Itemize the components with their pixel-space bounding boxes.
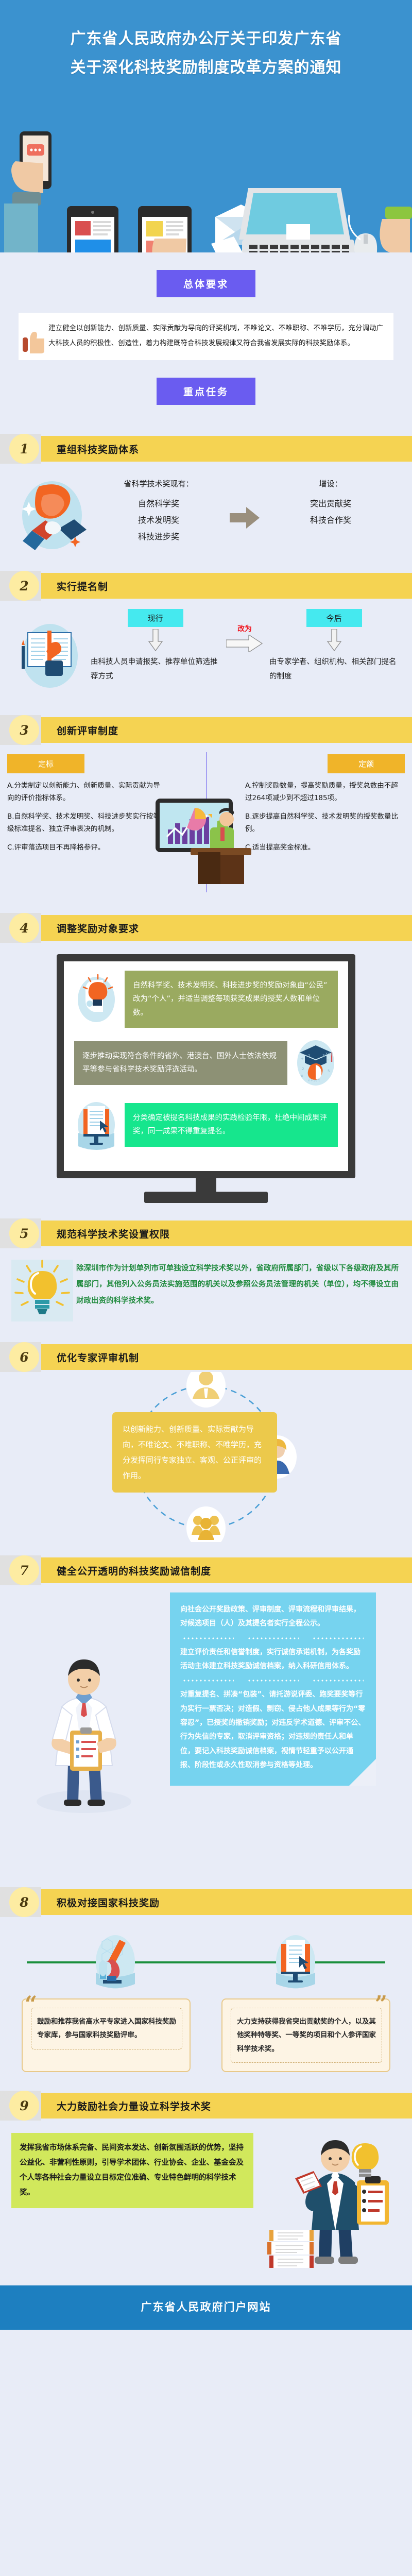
reward-target-box-2: 逐步推动实现符合条件的省外、港澳台、国外人士依法依规平等参与省科学技术奖励评选活… <box>74 1041 287 1085</box>
footer-label: 广东省人民政府门户网站 <box>141 2301 271 2313</box>
quote-text-right: 大力支持获得我省突出贡献奖的个人，以及其他奖种特等奖、一等奖的项目和个人参评国家… <box>231 2008 382 2063</box>
dotted-divider <box>182 1680 364 1682</box>
dinge-item: A.控制奖励数量，提高奖励质量，授奖总数由不超过264项减少到不超过185项。 <box>245 779 405 804</box>
section-2-flow: 现行 由科技人员申请报奖、推荐单位筛选推荐方式 改为 今后 由专家学者、组织机构… <box>89 609 401 684</box>
svg-text:=: = <box>327 1058 330 1062</box>
credit-paragraph-2: 建立评价责任和信誉制度，实行诚信承诺机制，为各奖励活动主体建立科技奖励诚信档案，… <box>180 1646 366 1674</box>
quote-text-left: 鼓励和推荐我省高水平专家进入国家科技奖励专家库，参与国家科技奖励评审。 <box>31 2008 182 2049</box>
quote-box-left: “ 鼓励和推荐我省高水平专家进入国家科技奖励专家库，参与国家科技奖励评审。 <box>22 1998 191 2072</box>
dingbiao-item: C.评审落选项目不再降格参评。 <box>7 841 167 854</box>
section-header-2: 2 实行提名制 <box>0 571 412 601</box>
future-system-text: 由专家学者、组织机构、相关部门提名的制度 <box>267 655 401 684</box>
section-1-columns: 省科学技术奖现有： 自然科学奖 技术发明奖 科技进步奖 增设： 突出贡献奖 科技… <box>91 475 399 545</box>
section-number-2: 2 <box>9 571 39 601</box>
existing-award-item: 技术发明奖 <box>91 512 227 529</box>
arrow-down-icon <box>327 629 342 652</box>
section-title-8: 积极对接国家科技奖励 <box>57 1895 160 1909</box>
section-number-1: 1 <box>9 434 39 464</box>
existing-awards-column: 省科学技术奖现有： 自然科学奖 技术发明奖 科技进步奖 <box>91 478 227 545</box>
page-fold-corner <box>349 1759 376 1786</box>
tag-dinge: 定额 <box>328 754 405 773</box>
lightbulb-head-icon <box>74 973 118 1026</box>
microscope-icon <box>92 1930 139 1993</box>
current-system-text: 由科技人员申请报奖、推荐单位筛选推荐方式 <box>89 655 222 684</box>
added-awards-column: 增设： 突出贡献奖 科技合作奖 <box>263 478 399 529</box>
lightbulb-icon <box>11 1260 73 1321</box>
svg-text:2: 2 <box>302 1067 304 1071</box>
standard-setting-column: 定标 A.分类制定以创新能力、创新质量、实际贡献为导向的评价指标体系。 B.自然… <box>7 754 167 860</box>
section-number-4: 4 <box>9 913 39 943</box>
section-title-bar-8: 积极对接国家科技奖励 <box>41 1889 412 1915</box>
existing-award-item: 科技进步奖 <box>91 529 227 545</box>
section-number-3: 3 <box>9 715 39 745</box>
reward-target-box-1: 自然科学奖、技术发明奖、科技进步奖的奖励对象由“公民”改为“个人”，并适当调整每… <box>125 971 338 1028</box>
quote-box-right: ” 大力支持获得我省突出贡献奖的个人，以及其他奖种特等奖、一等奖的项目和个人参评… <box>221 1998 390 2072</box>
section-title-3: 创新评审制度 <box>57 723 118 737</box>
trophy-handshake-icon <box>13 475 91 552</box>
current-label: 现行 <box>128 609 183 627</box>
monitor-stand-base <box>144 1192 268 1203</box>
section-title-6: 优化专家评审机制 <box>57 1350 139 1364</box>
svg-text:√+3∂π: √+3∂π <box>308 1078 320 1082</box>
footer-bar: 广东省人民政府门户网站 <box>0 2285 412 2330</box>
dinge-item: B.逐步提高自然科学奖、技术发明奖的授奖数量比例。 <box>245 810 405 835</box>
section-number-8: 8 <box>9 1887 39 1917</box>
document-review-icon <box>74 1098 118 1151</box>
arrow-down-icon <box>148 629 163 652</box>
overall-requirement-text: 建立健全以创新能力、创新质量、实际贡献为导向的评奖机制，不唯论文、不唯职称、不唯… <box>48 324 383 347</box>
existing-award-item: 自然科学奖 <box>91 496 227 512</box>
section-8-quote-row: “ 鼓励和推荐我省高水平专家进入国家科技奖励专家库，参与国家科技奖励评审。 ” … <box>0 1994 412 2072</box>
open-book-hand-icon <box>11 609 89 694</box>
section-8-content: “ 鼓励和推荐我省高水平专家进入国家科技奖励专家库，参与国家科技奖励评审。 ” … <box>0 1917 412 2077</box>
svg-text:x+y: x+y <box>325 1052 333 1056</box>
section-header-8: 8 积极对接国家科技奖励 <box>0 1887 412 1917</box>
tag-dingbiao: 定标 <box>7 754 84 773</box>
future-system-column: 今后 由专家学者、组织机构、相关部门提名的制度 <box>267 609 401 684</box>
quota-column: 定额 A.控制奖励数量，提高奖励质量，授奖总数由不超过264项减少到不超过185… <box>245 754 405 860</box>
svg-text:5: 5 <box>328 1069 330 1073</box>
presenter-chart-icon <box>150 796 261 889</box>
avatar-top <box>186 1372 226 1408</box>
svg-text:3: 3 <box>322 1054 324 1058</box>
section-title-bar-6: 优化专家评审机制 <box>41 1344 412 1370</box>
change-to-marker: 改为 <box>222 609 267 654</box>
section-2-content: 现行 由科技人员申请报奖、推荐单位筛选推荐方式 改为 今后 由专家学者、组织机构… <box>0 601 412 702</box>
section-header-4: 4 调整奖励对象要求 <box>0 913 412 943</box>
section-title-bar-2: 实行提名制 <box>41 573 412 599</box>
credit-paragraph-1: 向社会公开奖励政策、评审制度、评审流程和评审结果，对候选项目（人）及其提名者实行… <box>180 1603 366 1631</box>
hero-desk-illustration <box>0 116 412 252</box>
key-tasks-banner-wrap: 重点任务 <box>0 360 412 420</box>
reward-target-box-3: 分类确定被提名科技成果的实践检验年限，杜绝中间成果评奖，同一成果不得重复提名。 <box>125 1103 338 1147</box>
svg-text:1: 1 <box>308 1054 310 1058</box>
timeline-line <box>27 1961 385 1963</box>
section-title-bar-3: 创新评审制度 <box>41 717 412 743</box>
title-line-2: 关于深化科技奖励制度改革方案的通知 <box>0 54 412 82</box>
future-label: 今后 <box>306 609 362 627</box>
quote-close-icon: ” <box>375 1993 387 2015</box>
section-title-bar-7: 健全公开透明的科技奖励诚信制度 <box>41 1557 412 1583</box>
monitor-frame: 自然科学奖、技术发明奖、科技进步奖的奖励对象由“公民”改为“个人”，并适当调整每… <box>57 954 355 1203</box>
section-5-text: 除深圳市作为计划单列市可单独设立科学技术奖以外，省政府所属部门，省级以下各级政府… <box>73 1260 399 1309</box>
section-title-1: 重组科技奖励体系 <box>57 442 139 456</box>
overall-requirement-box: 建立健全以创新能力、创新质量、实际贡献为导向的评奖机制，不唯论文、不唯职称、不唯… <box>19 313 393 360</box>
section-number-6: 6 <box>9 1342 39 1372</box>
section-title-bar-1: 重组科技奖励体系 <box>41 436 412 462</box>
section-title-4: 调整奖励对象要求 <box>57 921 139 935</box>
section-9-text: 发挥我省市场体系完备、民间资本发达、创新氛围活跃的优势，坚持公益化、非营利性原则… <box>11 2133 253 2208</box>
reward-target-row-2: +13 2=x+y X5√+3∂π 逐步推动实现符合条件的省外、港澳台、国外人士… <box>74 1036 338 1090</box>
title-line-1: 广东省人民政府办公厅关于印发广东省 <box>0 25 412 54</box>
arrow-right-outline-icon <box>226 635 263 652</box>
graduation-cap-globe-icon: +13 2=x+y X5√+3∂π <box>294 1036 338 1090</box>
arrow-right-icon <box>227 478 263 529</box>
existing-awards-label: 省科学技术奖现有： <box>91 478 227 489</box>
dotted-divider <box>182 1637 364 1639</box>
section-title-5: 规范科学技术奖设置权限 <box>57 1227 170 1241</box>
section-7-content: 向社会公开奖励政策、评审制度、评审流程和评审结果，对候选项目（人）及其提名者实行… <box>0 1585 412 1874</box>
added-award-item: 科技合作奖 <box>263 512 399 529</box>
quote-open-icon: “ <box>25 1993 37 2015</box>
section-4-content: 自然科学奖、技术发明奖、科技进步奖的奖励对象由“公民”改为“个人”，并适当调整每… <box>0 943 412 1205</box>
section-7-panel: 向社会公开奖励政策、评审制度、评审流程和评审结果，对候选项目（人）及其提名者实行… <box>170 1592 376 1786</box>
dingbiao-item: A.分类制定以创新能力、创新质量、实际贡献为导向的评价指标体系。 <box>7 779 167 804</box>
dinge-item: C.适当提高奖金标准。 <box>245 841 405 854</box>
section-header-6: 6 优化专家评审机制 <box>0 1342 412 1372</box>
banner-overall: 总体要求 <box>157 270 255 297</box>
section-title-bar-4: 调整奖励对象要求 <box>41 915 412 941</box>
businessman-books-illustration <box>261 2133 401 2272</box>
monitor-screen: 自然科学奖、技术发明奖、科技进步奖的奖励对象由“公民”改为“个人”，并适当调整每… <box>64 961 348 1171</box>
section-number-5: 5 <box>9 1218 39 1248</box>
section-6-text-card: 以创新能力、创新质量、实际贡献为导向，不唯论文、不唯职称、不唯学历，充分发挥同行… <box>112 1412 277 1493</box>
section-title-bar-5: 规范科学技术奖设置权限 <box>41 1221 412 1246</box>
current-system-column: 现行 由科技人员申请报奖、推荐单位筛选推荐方式 <box>89 609 222 684</box>
added-awards-label: 增设： <box>263 478 399 489</box>
section-title-2: 实行提名制 <box>57 579 108 593</box>
section-header-9: 9 大力鼓励社会力量设立科学技术奖 <box>0 2091 412 2121</box>
section-title-bar-9: 大力鼓励社会力量设立科学技术奖 <box>41 2093 412 2119</box>
section-number-7: 7 <box>9 1555 39 1585</box>
section-8-timeline <box>0 1927 412 1994</box>
section-5-content: 除深圳市作为计划单列市可单独设立科学技术奖以外，省政府所属部门，省级以下各级政府… <box>0 1248 412 1329</box>
change-to-label: 改为 <box>222 623 267 634</box>
section-header-5: 5 规范科学技术奖设置权限 <box>0 1218 412 1248</box>
section-header-7: 7 健全公开透明的科技奖励诚信制度 <box>0 1555 412 1585</box>
reward-target-row-3: 分类确定被提名科技成果的实践检验年限，杜绝中间成果评奖，同一成果不得重复提名。 <box>74 1098 338 1151</box>
dingbiao-item: B.自然科学奖、技术发明奖、科技进步奖实行按等级标准提名、独立评审表决的机制。 <box>7 810 167 835</box>
credit-paragraph-3: 对重复提名、拼凑“包装”、请托游说评委、跑奖要奖等行为实行一票否决；对造假、剽窃… <box>180 1688 366 1772</box>
section-1-content: 省科学技术奖现有： 自然科学奖 技术发明奖 科技进步奖 增设： 突出贡献奖 科技… <box>0 464 412 557</box>
section-title-7: 健全公开透明的科技奖励诚信制度 <box>57 1564 211 1578</box>
svg-text:X: X <box>301 1074 303 1078</box>
monitor-bezel: 自然科学奖、技术发明奖、科技进步奖的奖励对象由“公民”改为“个人”，并适当调整每… <box>57 954 355 1178</box>
section-9-content: 发挥我省市场体系完备、民间资本发达、创新氛围活跃的优势，坚持公益化、非营利性原则… <box>0 2121 412 2285</box>
scientist-clipboard-illustration <box>14 1647 153 1817</box>
overall-banner-wrap: 总体要求 <box>0 252 412 313</box>
section-header-1: 1 重组科技奖励体系 <box>0 434 412 464</box>
section-header-3: 3 创新评审制度 <box>0 715 412 745</box>
svg-text:+: + <box>301 1057 304 1061</box>
avatar-bottom-group <box>186 1506 226 1542</box>
document-cursor-icon <box>272 1930 319 1993</box>
reward-target-row-1: 自然科学奖、技术发明奖、科技进步奖的奖励对象由“公民”改为“个人”，并适当调整每… <box>74 971 338 1028</box>
section-number-9: 9 <box>9 2091 39 2121</box>
section-title-9: 大力鼓励社会力量设立科学技术奖 <box>57 2099 211 2113</box>
monitor-stand-neck <box>196 1178 216 1192</box>
section-3-content: 定标 A.分类制定以创新能力、创新质量、实际贡献为导向的评价指标体系。 B.自然… <box>0 745 412 900</box>
added-award-item: 突出贡献奖 <box>263 496 399 512</box>
thumbs-up-icon <box>23 331 44 355</box>
infographic-page: 广东省人民政府办公厅关于印发广东省 关于深化科技奖励制度改革方案的通知 <box>0 0 412 2330</box>
section-6-content: 以创新能力、创新质量、实际贡献为导向，不唯论文、不唯职称、不唯学历，充分发挥同行… <box>0 1372 412 1542</box>
hero-header: 广东省人民政府办公厅关于印发广东省 关于深化科技奖励制度改革方案的通知 <box>0 0 412 252</box>
banner-key-tasks: 重点任务 <box>157 378 255 405</box>
page-title: 广东省人民政府办公厅关于印发广东省 关于深化科技奖励制度改革方案的通知 <box>0 0 412 82</box>
